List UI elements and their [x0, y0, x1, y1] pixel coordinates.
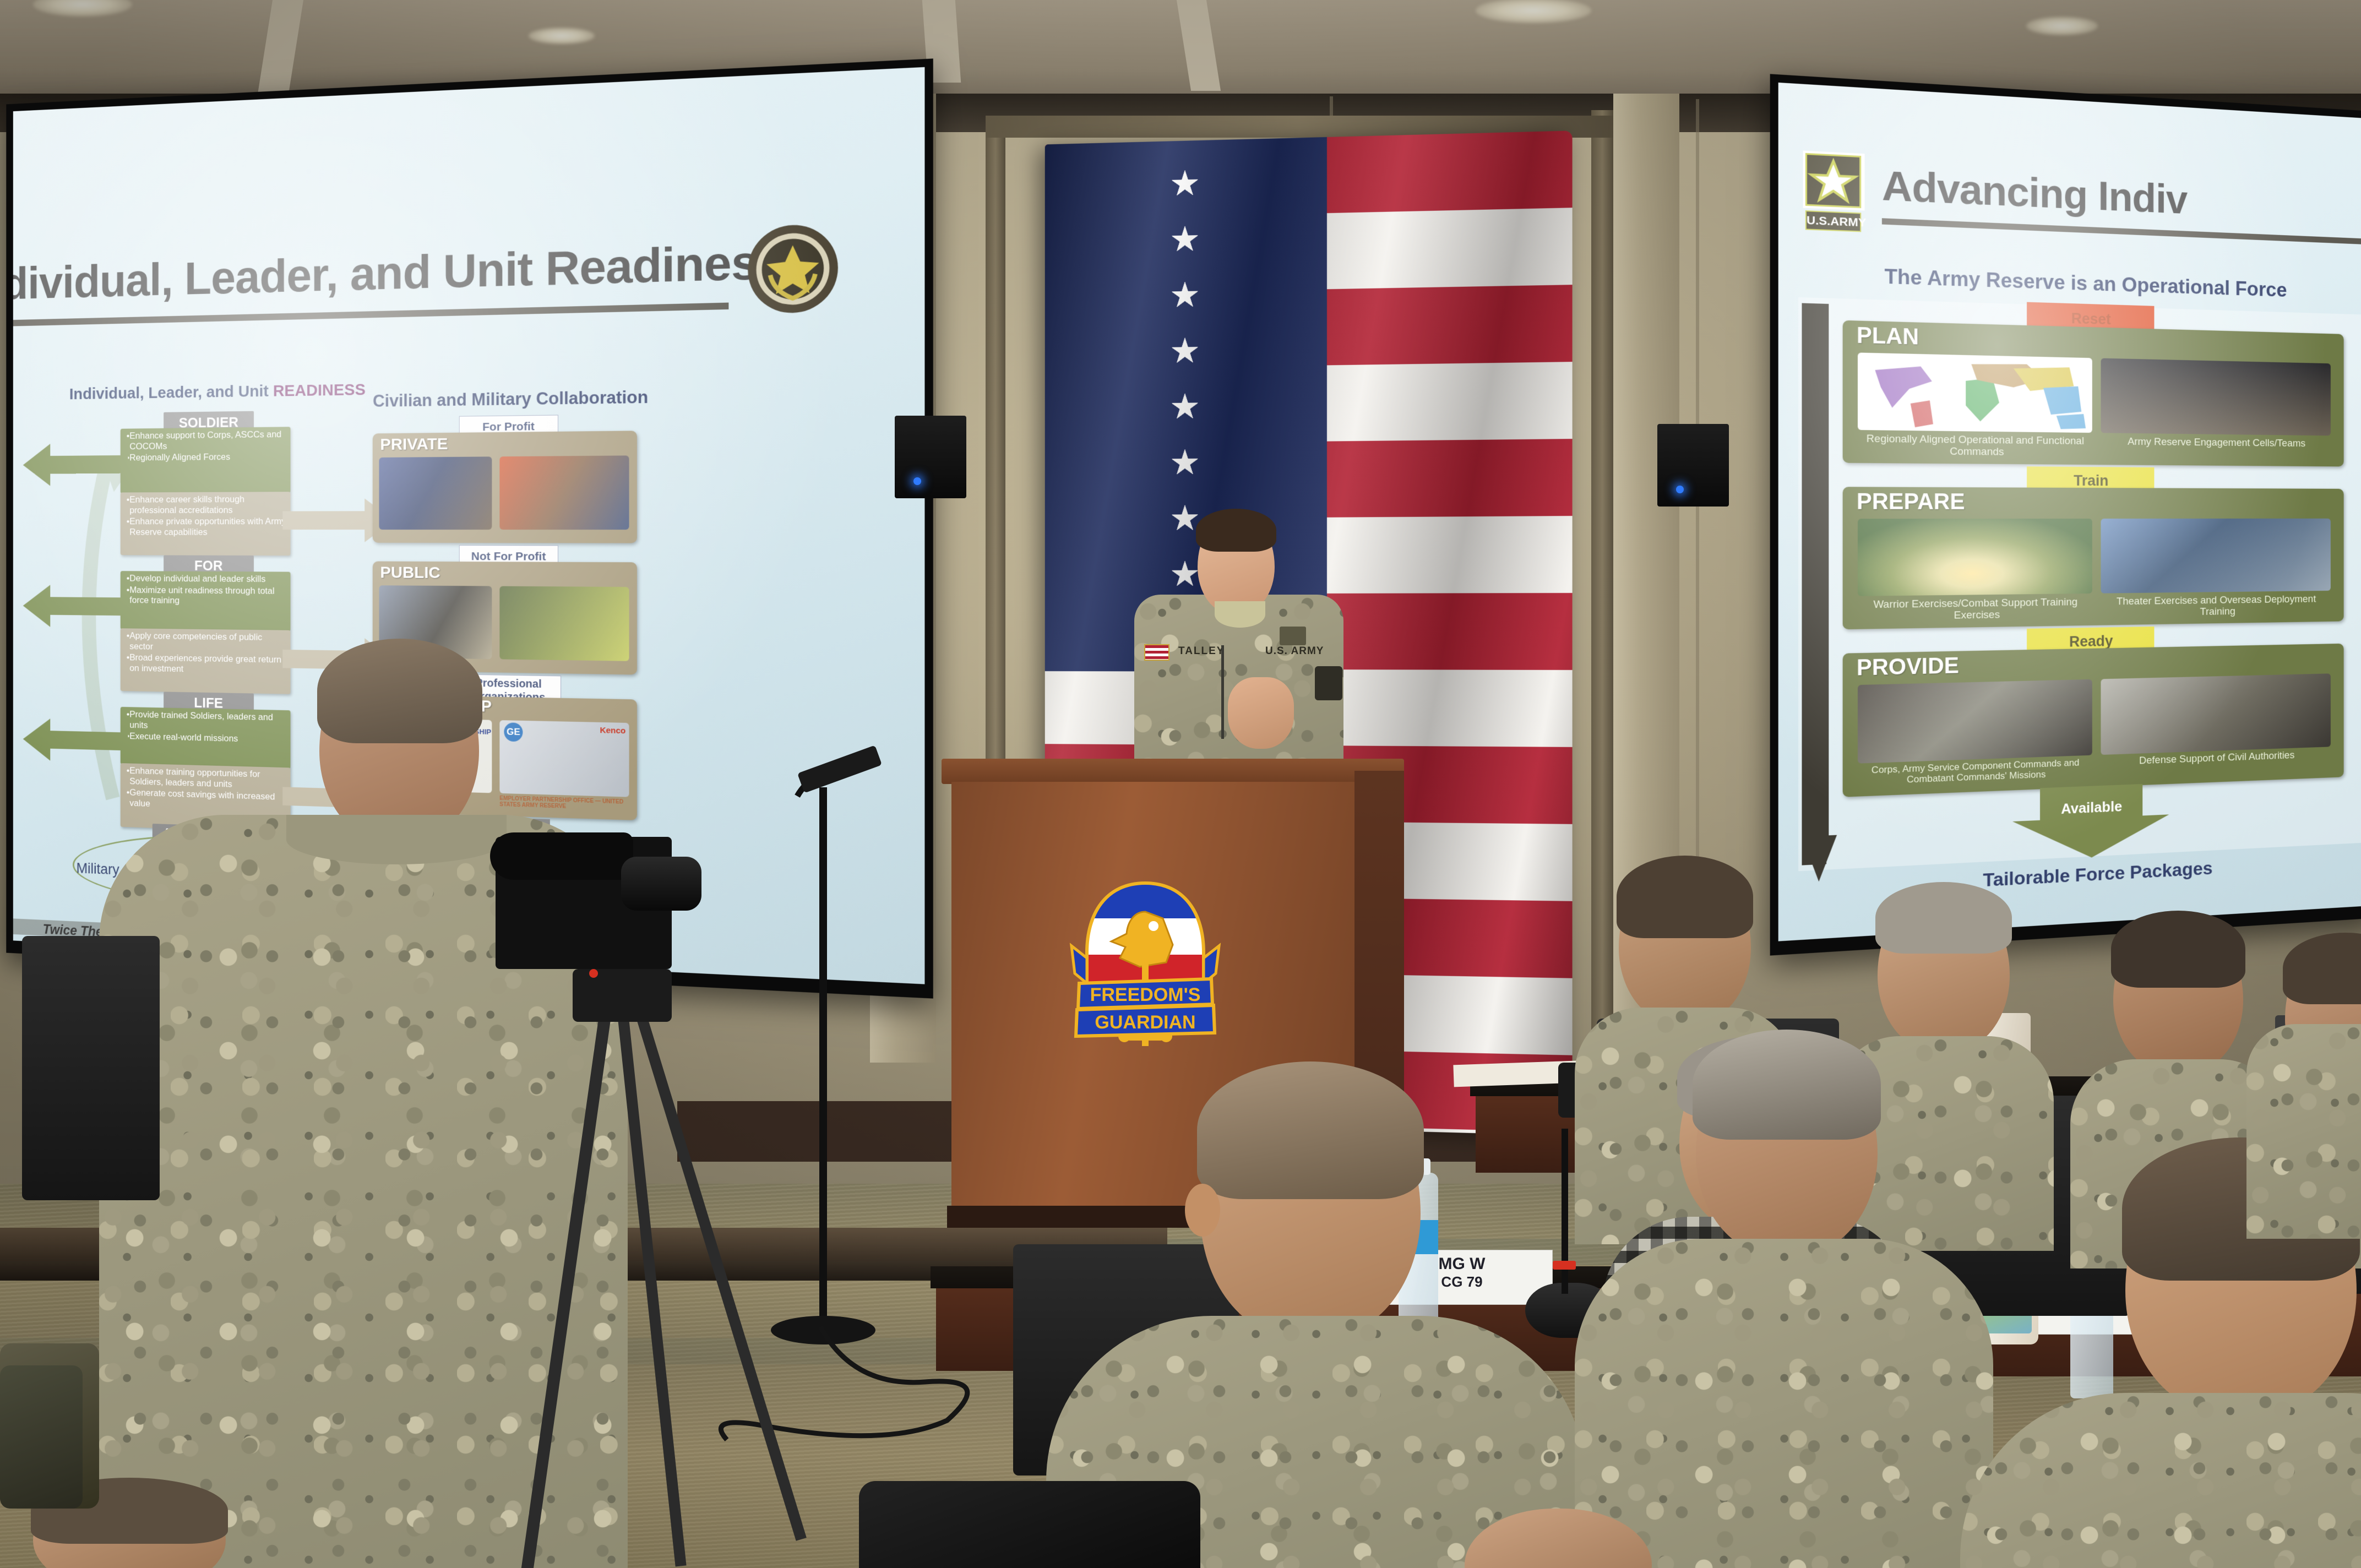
- usarc-seal-icon: [746, 222, 840, 316]
- stage-thumb-explosion: [1858, 519, 2092, 596]
- floor-mic-pole: [819, 787, 827, 1332]
- bullet: Regionally Aligned Forces: [127, 451, 287, 463]
- bullet: Enhance private opportunities with Army …: [127, 516, 287, 537]
- audience-head: [1465, 1509, 1652, 1568]
- wall-speaker-left: [895, 416, 966, 498]
- podium-top-surface: [942, 759, 1404, 784]
- audience-member-foreground-5: [1443, 1509, 1685, 1568]
- stage-caption: Warrior Exercises/Combat Support Trainin…: [1858, 597, 2092, 623]
- us-army-star-logo: U.S.ARMY: [1803, 150, 1865, 235]
- soldier-standing-at-camera: [77, 633, 639, 1568]
- stage-label-provide: PROVIDE: [1857, 654, 1959, 681]
- bullet: Maximize unit readiness through total fo…: [127, 585, 287, 607]
- stage-green-box-for: Develop individual and leader skills Max…: [121, 571, 291, 631]
- audience-ear: [1185, 1184, 1220, 1237]
- panel-label-public: PUBLIC: [380, 564, 440, 582]
- camera-hood: [490, 832, 633, 880]
- wall-speaker-right: [1657, 424, 1729, 507]
- left-slide-title: dividual, Leader, and Unit Readiness: [13, 234, 786, 311]
- stagebox-prepare: PREPARE Warrior Exercises/Combat Support…: [1843, 487, 2344, 629]
- stage-caption: Army Reserve Engagement Cells/Teams: [2101, 436, 2330, 450]
- camera-record-light: [589, 969, 598, 978]
- audience-torso: [2246, 1024, 2361, 1239]
- bullet: Develop individual and leader skills: [127, 573, 287, 585]
- speaker-led-right: [1676, 486, 1684, 493]
- audience-member-foreground-2: [1575, 1035, 1993, 1568]
- stage-tan-box-soldier: Enhance career skills through profession…: [121, 492, 291, 556]
- general-shoulder-patch: [1315, 666, 1342, 700]
- audience-hair: [1617, 856, 1753, 938]
- camera-operator-hair: [317, 639, 482, 743]
- audience-hair: [1197, 1061, 1424, 1199]
- bullet: Enhance career skills through profession…: [127, 494, 287, 515]
- camera-lens-icon: [621, 857, 701, 911]
- stage-caption: Theater Exercises and Overseas Deploymen…: [2101, 594, 2330, 620]
- tripod-head: [573, 969, 672, 1022]
- stage-thumb-conference: [2101, 358, 2330, 436]
- general-nametape: TALLEY: [1178, 645, 1243, 658]
- floor-bag-left-2: [0, 1365, 83, 1509]
- stage-label-prepare: PREPARE: [1857, 489, 1965, 515]
- collaboration-heading: Civilian and Military Collaboration: [373, 387, 649, 411]
- stagebox-provide: PROVIDE Corps, Army Service Component Co…: [1843, 644, 2344, 797]
- audience-hair: [2111, 911, 2245, 988]
- general-flag-patch: [1144, 644, 1169, 661]
- stage-caption: Regionally Aligned Operational and Funct…: [1858, 433, 2092, 459]
- general-rank-insignia: [1280, 627, 1306, 645]
- arrow-left-2: [23, 582, 128, 630]
- stage-thumb-worldmap: [1858, 352, 2092, 433]
- audience-torso: [1960, 1393, 2361, 1568]
- audience-hair: [1693, 1030, 1881, 1140]
- right-slide-title-rule: [1882, 218, 2361, 247]
- equipment-bag: [859, 1481, 1200, 1568]
- stage-green-box-soldier: Enhance support to Corps, ASCCs and COCO…: [121, 427, 291, 493]
- general-clasped-hands: [1228, 677, 1294, 749]
- presenting-general: TALLEY U.S. ARMY: [1123, 507, 1354, 782]
- us-army-logo-text: U.S.ARMY: [1805, 210, 1861, 232]
- right-available-down-arrow: [2007, 783, 2174, 862]
- bullet: Enhance support to Corps, ASCCs and COCO…: [127, 429, 287, 451]
- briefing-room-photo: dividual, Leader, and Unit Readiness Ind…: [0, 0, 2361, 1568]
- general-hair: [1196, 509, 1276, 552]
- speaker-led-left: [913, 477, 921, 485]
- chair-left-1[interactable]: [22, 936, 160, 1200]
- panel-thumb: [499, 455, 629, 530]
- stage-thumb-overseas: [2101, 519, 2330, 594]
- arrow-left-1: [23, 440, 128, 489]
- stagebox-plan: PLAN Regionally Aligned Op: [1843, 320, 2344, 467]
- forscom-left-arrow: [1802, 303, 1837, 883]
- crest-line-2: GUARDIAN: [1095, 1012, 1195, 1033]
- crest-line-1: FREEDOM'S: [1090, 984, 1201, 1005]
- right-screen-surface: U.S.ARMY Advancing Indiv The Army Reserv…: [1778, 83, 2361, 941]
- right-slide: U.S.ARMY Advancing Indiv The Army Reserv…: [1778, 83, 2361, 941]
- panel-thumb: [379, 456, 492, 530]
- panel-label-private: PRIVATE: [380, 435, 448, 454]
- ceiling-light-4: [529, 28, 595, 44]
- right-slide-title: Advancing Indiv: [1882, 161, 2187, 223]
- audience-member-far-right-edge: [2246, 974, 2361, 1239]
- panel-private: PRIVATE: [373, 431, 637, 543]
- operational-force-heading: The Army Reserve is an Operational Force: [1802, 262, 2358, 304]
- stage-label-plan: PLAN: [1857, 323, 1919, 350]
- general-tshirt-collar: [1215, 601, 1265, 628]
- wall-seam-2: [1696, 99, 1699, 914]
- freedoms-guardian-crest: FREEDOM'S GUARDIAN: [1063, 875, 1228, 1063]
- stage-thumb-soldiers: [1858, 679, 2092, 764]
- camera-operator-collar: [286, 815, 507, 864]
- ceiling-light-3: [2026, 17, 2098, 35]
- right-screen-frame: U.S.ARMY Advancing Indiv The Army Reserv…: [1770, 74, 2361, 955]
- stage-thumb-civil-support: [2101, 673, 2330, 755]
- general-service-tape: U.S. ARMY: [1265, 645, 1337, 658]
- audience-hair: [1875, 882, 2012, 954]
- general-lapel-mic-cable: [1221, 645, 1224, 739]
